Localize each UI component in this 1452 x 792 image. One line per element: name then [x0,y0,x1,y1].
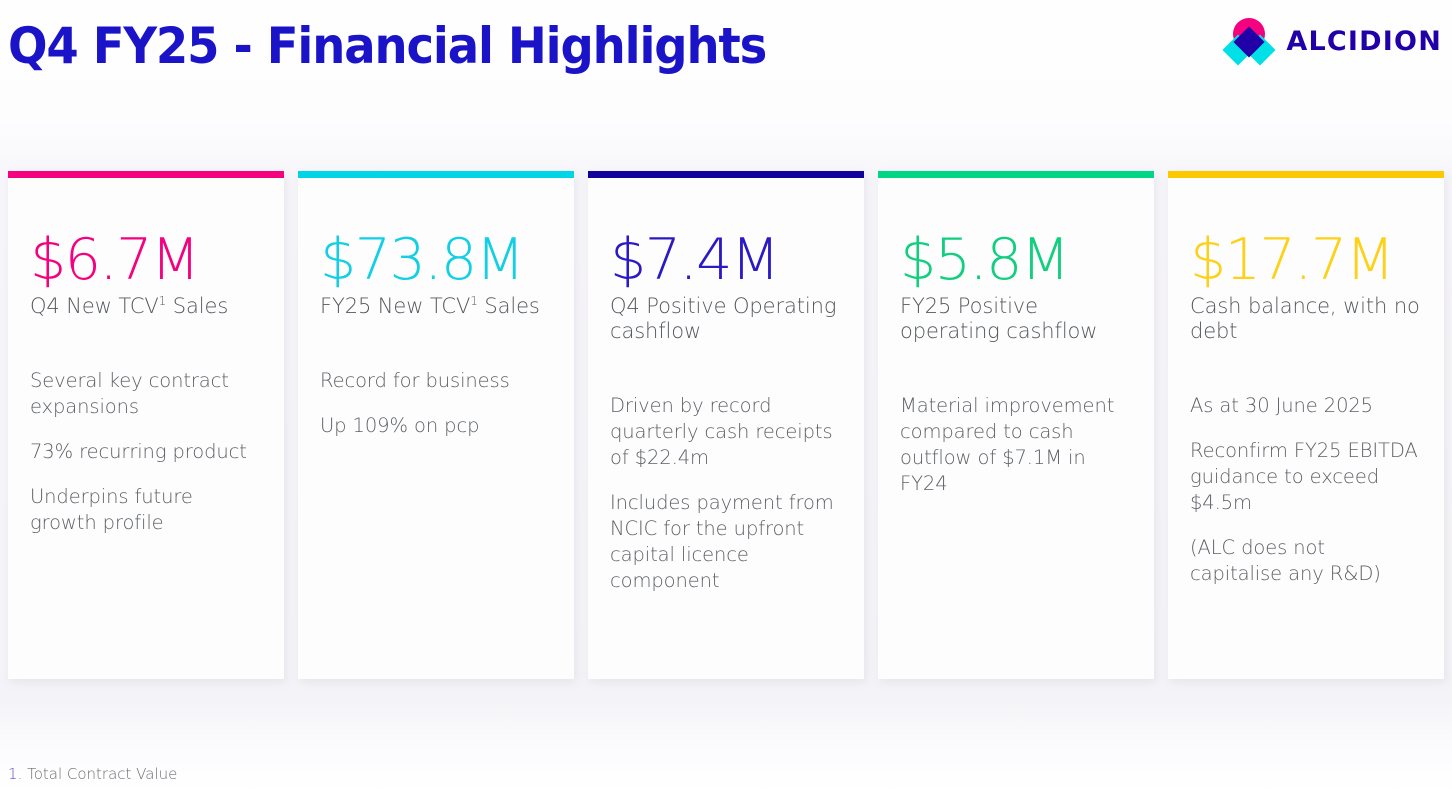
card-accent-bar [8,171,284,178]
card-body: $17.7M Cash balance, with no debt As at … [1168,178,1444,679]
card-label-text: Q4 New TCV [30,294,159,318]
footnote-text: Total Contract Value [22,765,177,783]
card-bullet-list: Several key contract expansions 73% recu… [30,368,262,536]
card-accent-bar [588,171,864,178]
card-bullet-item: Record for business [320,368,552,394]
highlight-card-fy25-new-tcv: $73.8M FY25 New TCV1 Sales Record for bu… [298,171,574,679]
card-bullet-item: Several key contract expansions [30,368,262,420]
card-value: $5.8M [900,230,1132,290]
footnote-number: 1. [8,765,22,783]
card-body: $7.4M Q4 Positive Operating cashflow Dri… [588,178,864,679]
card-bullet-list: As at 30 June 2025 Reconfirm FY25 EBITDA… [1190,393,1422,587]
card-body: $73.8M FY25 New TCV1 Sales Record for bu… [298,178,574,679]
card-bullet-item: Driven by record quarterly cash receipts… [610,393,842,471]
page-title: Q4 FY25 - Financial Highlights [8,14,766,78]
alcidion-wordmark: ALCIDION [1286,26,1442,57]
card-bullet-item: Includes payment from NCIC for the upfro… [610,490,842,594]
card-label: FY25 Positive operating cashflow [900,294,1132,344]
card-bullet-item: (ALC does not capitalise any R&D) [1190,535,1422,587]
card-body: $5.8M FY25 Positive operating cashflow M… [878,178,1154,679]
card-bullet-item: Material improvement compared to cash ou… [900,393,1132,497]
card-label-text: Cash balance, with no debt [1190,294,1420,343]
highlight-card-q4-new-tcv: $6.7M Q4 New TCV1 Sales Several key cont… [8,171,284,679]
alcidion-logo-mark-icon [1226,18,1272,64]
card-value: $17.7M [1190,230,1422,290]
alcidion-logo: ALCIDION [1226,18,1442,64]
card-label: FY25 New TCV1 Sales [320,294,552,319]
card-value: $6.7M [30,230,262,290]
card-bullet-item: Up 109% on pcp [320,413,552,439]
highlight-card-cash-balance: $17.7M Cash balance, with no debt As at … [1168,171,1444,679]
card-bullet-list: Material improvement compared to cash ou… [900,393,1132,497]
footnote: 1. Total Contract Value [8,764,177,784]
card-label-text: Q4 Positive Operating cashflow [610,294,836,343]
card-body: $6.7M Q4 New TCV1 Sales Several key cont… [8,178,284,679]
card-label-suffix: Sales [166,294,228,318]
card-accent-bar [298,171,574,178]
card-bullet-item: As at 30 June 2025 [1190,393,1422,419]
card-bullet-item: Underpins future growth profile [30,484,262,536]
highlight-card-fy25-operating-cashflow: $5.8M FY25 Positive operating cashflow M… [878,171,1154,679]
card-label-footnote-ref: 1 [470,294,478,308]
card-accent-bar [1168,171,1444,178]
card-bullet-list: Record for business Up 109% on pcp [320,368,552,439]
highlight-card-strip: $6.7M Q4 New TCV1 Sales Several key cont… [0,171,1452,679]
card-label: Q4 Positive Operating cashflow [610,294,842,344]
card-label: Q4 New TCV1 Sales [30,294,262,319]
card-bullet-item: 73% recurring product [30,439,262,465]
slide-header: Q4 FY25 - Financial Highlights ALCIDION [0,0,1452,100]
card-label-text: FY25 Positive operating cashflow [900,294,1097,343]
card-bullet-item: Reconfirm FY25 EBITDA guidance to exceed… [1190,438,1422,516]
card-value: $73.8M [320,230,552,290]
slide-canvas: Q4 FY25 - Financial Highlights ALCIDION … [0,0,1452,792]
card-bullet-list: Driven by record quarterly cash receipts… [610,393,842,594]
card-accent-bar [878,171,1154,178]
card-label: Cash balance, with no debt [1190,294,1422,344]
card-label-text: FY25 New TCV [320,294,470,318]
card-value: $7.4M [610,230,842,290]
card-label-suffix: Sales [478,294,540,318]
highlight-card-q4-operating-cashflow: $7.4M Q4 Positive Operating cashflow Dri… [588,171,864,679]
